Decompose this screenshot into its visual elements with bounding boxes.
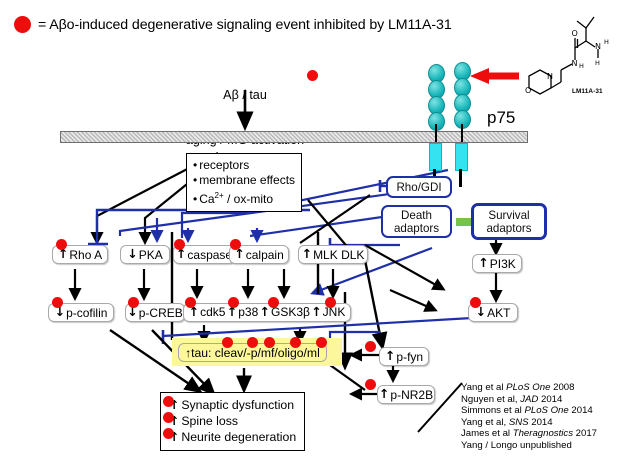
node-tau-label: tau: cleav/-p/mf/oligo/ml: [191, 346, 320, 360]
survival-adaptors-box[interactable]: Survival adaptors: [471, 203, 547, 240]
cross-black-1: [300, 195, 370, 243]
dot-jnk: [325, 297, 336, 308]
death-adaptors-line2: adaptors: [394, 222, 439, 235]
p75-receptor: [425, 62, 505, 144]
reference-item: Simmons et al PLoS One 2014: [461, 405, 597, 417]
node-p-nr2b[interactable]: ↑p-NR2B: [377, 385, 435, 404]
upstream-item-receptors: •receptors: [193, 158, 295, 173]
node-calpain-arrow: ↑: [234, 248, 244, 261]
rho-gdi-box[interactable]: Rho/GDI: [386, 176, 452, 198]
dot-p-nr2b: [365, 379, 376, 390]
node-gsk3b[interactable]: ↑GSK3β: [260, 306, 310, 319]
node-mlk-dlk-arrow: ↑: [302, 248, 312, 261]
dot-outcome-3: [163, 428, 174, 439]
dot-p38: [228, 297, 239, 308]
atom-label-N2: N: [595, 42, 601, 51]
dot-tau-3: [264, 337, 275, 348]
reference-item: Yang / Longo unpublished: [461, 440, 597, 452]
atom-label-Omorph: O: [525, 86, 531, 95]
dot-calpain: [230, 239, 241, 250]
dot-p-fyn: [365, 341, 376, 352]
dot-cdk5: [185, 297, 196, 308]
node-pka-label: PKA: [139, 249, 163, 261]
stimulus-line1: Aβ / tau: [155, 88, 335, 103]
outcome-spine-loss: ↑Spine loss: [169, 413, 296, 429]
dot-caspase: [174, 239, 185, 250]
atom-label-Nmorph: N: [547, 72, 553, 81]
node-cdk5[interactable]: ↑cdk5: [189, 306, 226, 319]
node-akt-arrow: ↓: [476, 306, 486, 319]
reference-item: Yang et al, SNS 2014: [461, 417, 597, 429]
reference-item: Yang et al PLoS One 2008: [461, 382, 597, 394]
atom-label-H: H: [579, 62, 584, 70]
node-pi3k[interactable]: ↑PI3K: [472, 254, 522, 273]
upstream-item-membrane: •membrane effects: [193, 173, 295, 188]
outcomes-box: ↑Synaptic dysfunction ↑Spine loss ↑Neuri…: [160, 392, 305, 451]
death-adaptors-box[interactable]: Death adaptors: [381, 205, 452, 238]
node-p-fyn[interactable]: ↑p-fyn: [379, 347, 429, 366]
upstream-effects-box: •receptors •membrane effects •Ca2+ / ox-…: [186, 153, 302, 212]
node-rho-a-label: Rho A: [69, 249, 102, 261]
atom-label-H2: H: [595, 59, 600, 67]
atom-label-N: N: [572, 59, 578, 68]
receptor-stalk: [461, 124, 464, 142]
lm11a31-structure: O N H N H H N O: [520, 8, 624, 100]
node-calpain-label: calpain: [246, 249, 284, 261]
rho-gdi-label: Rho/GDI: [396, 181, 441, 194]
survival-adaptors-line1: Survival: [488, 209, 529, 222]
reference-item: Nguyen et al, JAD 2014: [461, 394, 597, 406]
node-pka[interactable]: ↓PKA: [120, 245, 170, 264]
survival-adaptors-line2: adaptors: [486, 222, 531, 235]
dot-p-creb: [128, 297, 139, 308]
node-p-cofilin-arrow: ↓: [55, 306, 65, 319]
arrow-to-akt2: [390, 290, 435, 310]
p75-label: p75: [487, 108, 515, 128]
node-mlk-dlk-label: MLK DLK: [313, 249, 364, 261]
outcome-synaptic-dysfunction: ↑Synaptic dysfunction: [169, 397, 296, 413]
outcome-neurite-degeneration: ↑Neurite degeneration: [169, 429, 296, 445]
atom-label-H1: H: [604, 38, 609, 46]
node-p-nr2b-arrow: ↑: [379, 388, 389, 401]
receptor-transmembrane: [429, 143, 442, 171]
node-p-nr2b-label: p-NR2B: [390, 389, 433, 401]
node-p-fyn-label: p-fyn: [396, 351, 423, 363]
dot-rho-a: [56, 239, 67, 250]
upstream-item-calcium: •Ca2+ / ox-mito: [193, 188, 295, 207]
node-p-fyn-arrow: ↑: [385, 350, 395, 363]
receptor-stalk: [435, 124, 438, 142]
legend-label: = Aβo-induced degenerative signaling eve…: [38, 17, 452, 33]
inhibit-pka-line: [97, 210, 310, 244]
dot-stimulus: [307, 70, 318, 81]
dot-tau-1: [222, 337, 233, 348]
dot-tau-2: [247, 337, 258, 348]
node-p-cofilin-label: p-cofilin: [66, 307, 107, 319]
node-rho-a-arrow: ↑: [58, 248, 68, 261]
arrow-to-akt: [365, 245, 443, 289]
atom-label-O: O: [572, 29, 578, 38]
death-adaptors-line1: Death: [401, 209, 432, 222]
dot-outcome-1: [163, 396, 174, 407]
arrow-down-to-pfyn: [363, 250, 382, 345]
dot-outcome-2: [163, 412, 174, 423]
legend-red-dot: [14, 16, 31, 33]
node-pi3k-label: PI3K: [490, 258, 516, 270]
references-list: Yang et al PLoS One 2008 Nguyen et al, J…: [461, 382, 597, 452]
lm11a31-name-label: LM11A-31: [572, 88, 603, 95]
dot-gsk3b: [268, 297, 279, 308]
receptor-transmembrane: [455, 143, 468, 171]
dot-akt: [470, 297, 481, 308]
node-jnk[interactable]: ↑JNK: [311, 306, 345, 319]
dot-p-cofilin: [52, 297, 63, 308]
node-mlk-dlk[interactable]: ↑MLK DLK: [298, 245, 368, 264]
node-pka-arrow: ↓: [127, 248, 137, 261]
node-p-creb-label: p-CREB: [139, 307, 183, 319]
diagram-canvas: = Aβo-induced degenerative signaling eve…: [0, 0, 627, 471]
node-akt-label: AKT: [487, 307, 510, 319]
dot-tau-5: [316, 337, 327, 348]
dot-tau-4: [290, 337, 301, 348]
line-tau-nr2b: [330, 365, 365, 390]
node-caspase-arrow: ↑: [176, 248, 186, 261]
receptor-stalk: [459, 169, 462, 187]
node-caspase-label: caspase: [187, 249, 232, 261]
node-p38[interactable]: ↑p38: [227, 306, 259, 319]
node-p-creb-arrow: ↓: [127, 306, 137, 319]
reference-item: James et al Theragnostics 2017: [461, 428, 597, 440]
node-pi3k-arrow: ↑: [478, 257, 488, 270]
legend: = Aβo-induced degenerative signaling eve…: [14, 16, 452, 33]
